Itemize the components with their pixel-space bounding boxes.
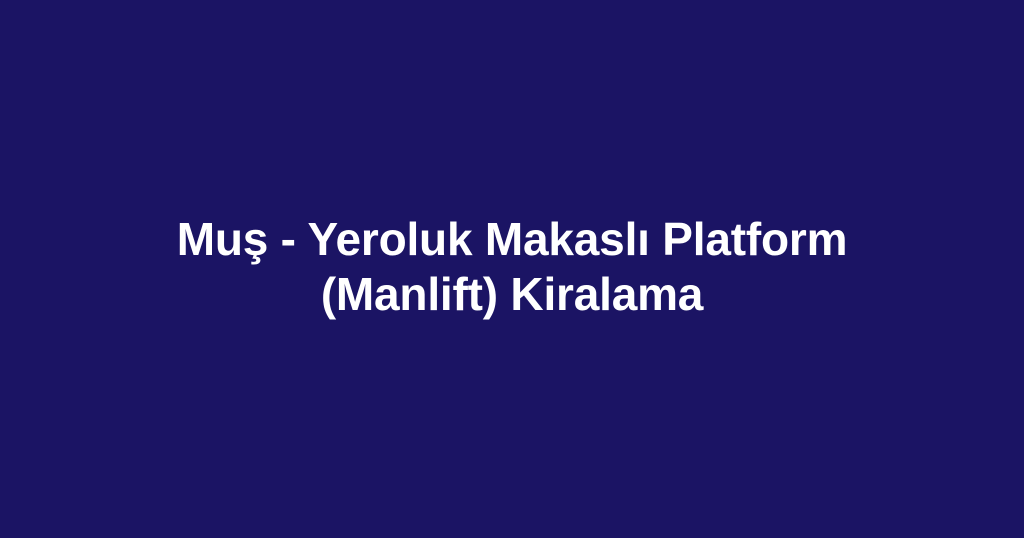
headline-block: Muş - Yeroluk Makaslı Platform (Manlift)… xyxy=(152,212,872,322)
link-preview-card: Muş - Yeroluk Makaslı Platform (Manlift)… xyxy=(0,0,1024,538)
page-title: Muş - Yeroluk Makaslı Platform (Manlift)… xyxy=(152,212,872,322)
